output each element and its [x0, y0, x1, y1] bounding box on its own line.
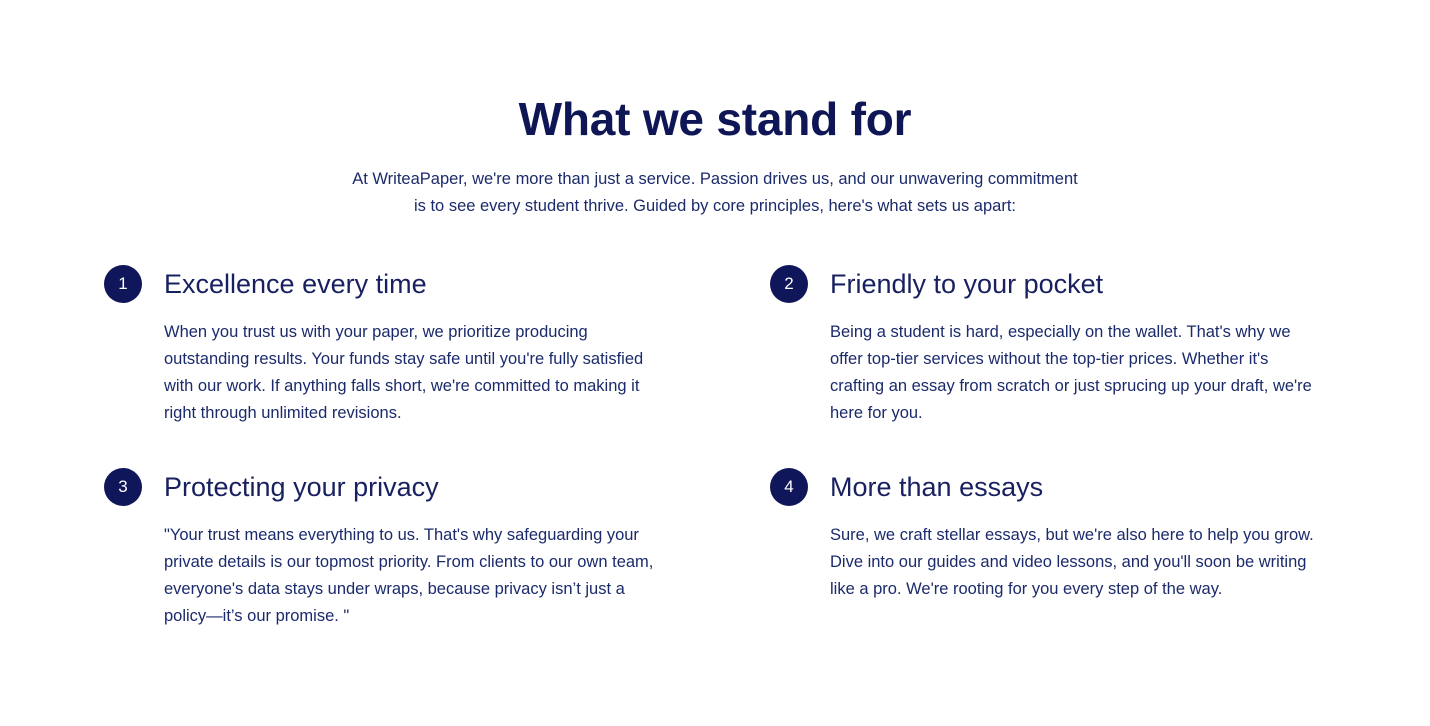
principle-item-2: 2 Friendly to your pocket Being a studen… [770, 262, 1326, 427]
principle-heading-row-2: 2 Friendly to your pocket [770, 262, 1326, 306]
page-root: What we stand for At WriteaPaper, we're … [0, 0, 1430, 726]
principle-number-badge-4: 4 [770, 468, 808, 506]
principle-title-3: Protecting your privacy [164, 470, 439, 504]
page-subtitle: At WriteaPaper, we're more than just a s… [0, 166, 1430, 220]
principle-number-badge-3: 3 [104, 468, 142, 506]
principle-body-2: Being a student is hard, especially on t… [830, 319, 1326, 427]
principles-grid: 1 Excellence every time When you trust u… [0, 262, 1430, 630]
page-subtitle-line-1: At WriteaPaper, we're more than just a s… [0, 166, 1430, 193]
principle-heading-row-3: 3 Protecting your privacy [104, 465, 660, 509]
principle-item-4: 4 More than essays Sure, we craft stella… [770, 465, 1326, 630]
principle-body-1: When you trust us with your paper, we pr… [164, 319, 660, 427]
principle-body-4: Sure, we craft stellar essays, but we're… [830, 522, 1326, 603]
principle-number-badge-2: 2 [770, 265, 808, 303]
page-header: What we stand for At WriteaPaper, we're … [0, 0, 1430, 220]
principle-title-1: Excellence every time [164, 267, 427, 301]
principle-heading-row-1: 1 Excellence every time [104, 262, 660, 306]
page-title: What we stand for [0, 92, 1430, 146]
principle-title-2: Friendly to your pocket [830, 267, 1103, 301]
page-subtitle-line-2: is to see every student thrive. Guided b… [0, 193, 1430, 220]
principle-item-1: 1 Excellence every time When you trust u… [104, 262, 660, 427]
principle-heading-row-4: 4 More than essays [770, 465, 1326, 509]
principle-title-4: More than essays [830, 470, 1043, 504]
principle-item-3: 3 Protecting your privacy "Your trust me… [104, 465, 660, 630]
principle-body-3: "Your trust means everything to us. That… [164, 522, 660, 630]
principle-number-badge-1: 1 [104, 265, 142, 303]
